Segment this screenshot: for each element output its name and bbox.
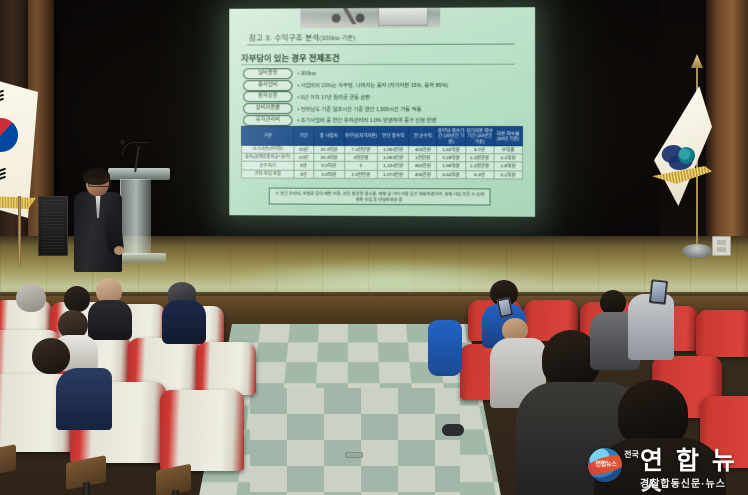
person-head <box>618 380 688 446</box>
seat-leg <box>172 490 179 495</box>
auditorium-photo: 참고 3. 수익구조 분석(300kw 기준) 자부담이 있는 경우 전제조건 … <box>0 0 748 495</box>
cell: 4천만원 <box>344 154 378 162</box>
col-header: 자부담(자기자본) <box>344 126 378 145</box>
slide-bullet-list: 설비용량 • 300kw 총사업비 • 사업비의 15%는 자부담, 나머지는 … <box>243 68 523 126</box>
cell: 1,053만원 <box>378 154 409 162</box>
slide-title-suffix: (300kw 기준) <box>319 36 355 42</box>
glasses-icon <box>88 179 111 187</box>
korean-national-flag <box>0 78 46 263</box>
col-header: 자본 회수율 (20년 기준) <box>494 127 523 146</box>
taeguk-symbol <box>0 114 22 157</box>
bullet-tag: 총사업비 <box>243 80 292 91</box>
flag-stand <box>682 244 712 258</box>
person-torso <box>56 368 112 430</box>
cell: 6.62억원 <box>437 170 465 178</box>
cell: 순수자기 <box>242 161 294 169</box>
cell: 403만원 <box>409 145 437 153</box>
cell: 5.7년 <box>465 145 493 153</box>
col-header: 자기자본 회수기간 (20년간 기준) <box>465 127 493 146</box>
bullet-text: • 300kw <box>297 71 315 77</box>
bullet-text: • 초기사업비 중 연간 유지관리비 1.0% 반영하여 증가 산정 반영 <box>297 116 436 124</box>
bullet-tag: 유지관리비 <box>243 115 292 126</box>
revenue-structure-table: 구분 기간 총 사업비 자부담(자기자본) 연간 총수익 연 순수익 자부담 회… <box>241 126 523 179</box>
cell: 3년 <box>294 170 314 178</box>
person-shoe <box>442 424 464 436</box>
subtitle-divider <box>241 64 515 66</box>
presenter <box>72 170 132 270</box>
cell: 1,054만원 <box>378 145 409 153</box>
slide-footnote: ※ 연간 유지비, 보험료 등의 제반 비용, 연간 발전량 감소율, 세제 및… <box>269 188 491 206</box>
cell: 5.1억원 <box>494 170 523 178</box>
col-header: 연간 총수익 <box>378 126 409 145</box>
cell: 1.8천만원 <box>344 170 378 178</box>
equipment-photo <box>378 7 428 26</box>
cell: 1,62억원 <box>437 145 465 153</box>
floor-drain <box>345 452 363 458</box>
cell: 기타 차입 포함 <box>242 170 294 178</box>
list-item: 융자상환 • 5년 거치 17년 원리금 균등 상환 <box>243 91 523 103</box>
cell: 1.3천만원 <box>465 154 493 162</box>
flag-pole <box>18 196 21 266</box>
stage-light-reflection <box>168 252 608 296</box>
col-header: 자부담 회수기간 (20년간 기준) <box>437 127 465 146</box>
list-item: 설비용량 • 300kw <box>243 68 523 80</box>
wall-outlet <box>712 236 731 256</box>
cell: 10.4억원 <box>313 153 344 161</box>
person-torso <box>162 300 206 344</box>
slide-title-text: 참고 3. 수익구조 분석 <box>249 33 319 42</box>
bicycle-icon <box>328 7 370 24</box>
cell: 0 <box>344 162 378 170</box>
table-header-row: 구분 기간 총 사업비 자부담(자기자본) 연간 총수익 연 순수익 자부담 회… <box>242 126 523 145</box>
cell: 5.2억원 <box>313 162 344 170</box>
cell: 1,104만원 <box>378 162 409 170</box>
cell: 352만원 <box>409 162 437 170</box>
person-torso <box>628 294 674 360</box>
cell: 자기자본(자부담) <box>242 145 294 153</box>
col-header: 구분 <box>242 126 294 145</box>
presenter-hand <box>114 246 124 255</box>
aisle-carpet-near <box>250 388 460 495</box>
cell: 1.96억원 <box>437 162 465 170</box>
list-item: 설비이용률 • 전라남도 기준 일조시간 기준 연간 1,555시간 가동 적용 <box>243 103 523 115</box>
cell: 20년 <box>294 145 314 153</box>
title-divider <box>247 44 515 46</box>
cell: 2.1억원 <box>494 154 523 162</box>
person-head <box>16 284 46 312</box>
flag-cloth <box>654 86 712 206</box>
cell: 1,073만원 <box>378 170 409 178</box>
slide-title: 참고 3. 수익구조 분석(300kw 기준) <box>249 32 355 43</box>
cell: 7.4천만원 <box>344 145 378 153</box>
bullet-tag: 설비이용률 <box>243 103 292 114</box>
col-header: 기간 <box>294 126 314 145</box>
cell: 3.3억원 <box>313 170 344 178</box>
person-hair <box>594 438 726 495</box>
seat-back <box>696 310 748 357</box>
cell: 융자금(태양광자금+장기) <box>242 153 294 161</box>
phone-screen <box>499 299 512 316</box>
person-head <box>32 338 70 374</box>
microphone <box>120 140 160 170</box>
cell: 수익률 <box>494 146 523 154</box>
table-row: 기타 차입 포함 3년 3.3억원 1.8천만원 1,073만원 305만원 6… <box>242 170 523 179</box>
list-item: 총사업비 • 사업비의 15%는 자부담, 나머지는 융자 (자기자본 15%,… <box>243 79 523 91</box>
cell: 1천만원 <box>409 154 437 162</box>
seat-armrest <box>0 444 16 478</box>
smartphone <box>649 279 668 305</box>
projection-screen: 참고 3. 수익구조 분석(300kw 기준) 자부담이 있는 경우 전제조건 … <box>229 7 535 217</box>
seat <box>160 390 244 494</box>
cell: 305만원 <box>409 170 437 178</box>
bullet-tag: 설비용량 <box>243 68 292 79</box>
cell: 10.4억원 <box>313 145 344 153</box>
cell: 5년 <box>294 162 314 170</box>
seat-leg <box>83 482 90 495</box>
microphone-head <box>120 140 125 145</box>
col-header: 연 순수익 <box>409 127 437 146</box>
cell: 1.2천만원 <box>465 162 493 170</box>
bullet-text: • 사업비의 15%는 자부담, 나머지는 융자 (자기자본 15%, 융자 8… <box>297 81 448 89</box>
seat-back <box>196 342 256 395</box>
bullet-tag: 융자상환 <box>243 92 292 103</box>
seat-back <box>160 390 244 471</box>
cell: 0.29억원 <box>437 154 465 162</box>
cell: 10년 <box>294 153 314 161</box>
person-torso <box>428 320 462 376</box>
slide-subtitle: 자부담이 있는 경우 전제조건 <box>241 52 339 64</box>
bullet-text: • 5년 거치 17년 원리금 균등 상환 <box>297 93 370 101</box>
bullet-text: • 전라남도 기준 일조시간 기준 연간 1,555시간 가동 적용 <box>297 105 421 113</box>
person-head <box>64 286 90 312</box>
cell: 1.9억원 <box>494 162 523 170</box>
list-item: 유지관리비 • 초기사업비 중 연간 유지관리비 1.0% 반영하여 증가 산정… <box>243 114 523 126</box>
microphone-gooseneck <box>122 142 149 155</box>
slide-header-photo <box>300 7 440 28</box>
cell: 6.4년 <box>465 170 493 178</box>
phone-screen <box>651 281 666 302</box>
person-torso <box>88 300 132 340</box>
col-header: 총 사업비 <box>313 126 344 145</box>
